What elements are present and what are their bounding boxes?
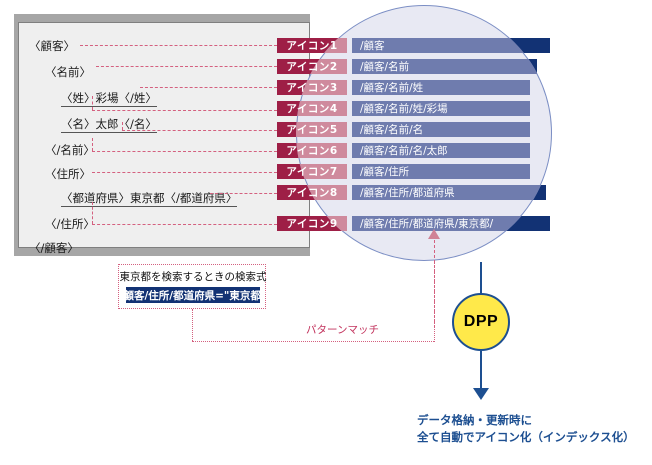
pattern-match-arrow-line	[434, 240, 435, 328]
pattern-match-connector-across	[192, 341, 434, 342]
dpp-caption: データ格納・更新時に 全て自動でアイコン化（インデックス化）	[417, 412, 635, 445]
search-expression-value: /顧客/住所/都道府県="東京都"	[126, 287, 260, 303]
pattern-match-label: パターンマッチ	[306, 322, 379, 337]
search-expression-callout: 東京都を検索するときの検索式 /顧客/住所/都道府県="東京都"	[118, 264, 266, 309]
dpp-outflow-arrow-head	[473, 388, 489, 400]
pattern-match-connector-down	[192, 309, 193, 341]
dpp-outflow-line	[480, 351, 482, 391]
dpp-inflow-line	[480, 262, 482, 294]
pattern-match-arrow-head	[428, 229, 440, 239]
dpp-caption-line2: 全て自動でアイコン化（インデックス化）	[417, 429, 635, 446]
dpp-node: DPP	[452, 293, 510, 351]
magnifier-lens	[296, 5, 552, 261]
search-caption: 東京都を検索するときの検索式	[119, 269, 267, 284]
dpp-caption-line1: データ格納・更新時に	[417, 412, 635, 429]
